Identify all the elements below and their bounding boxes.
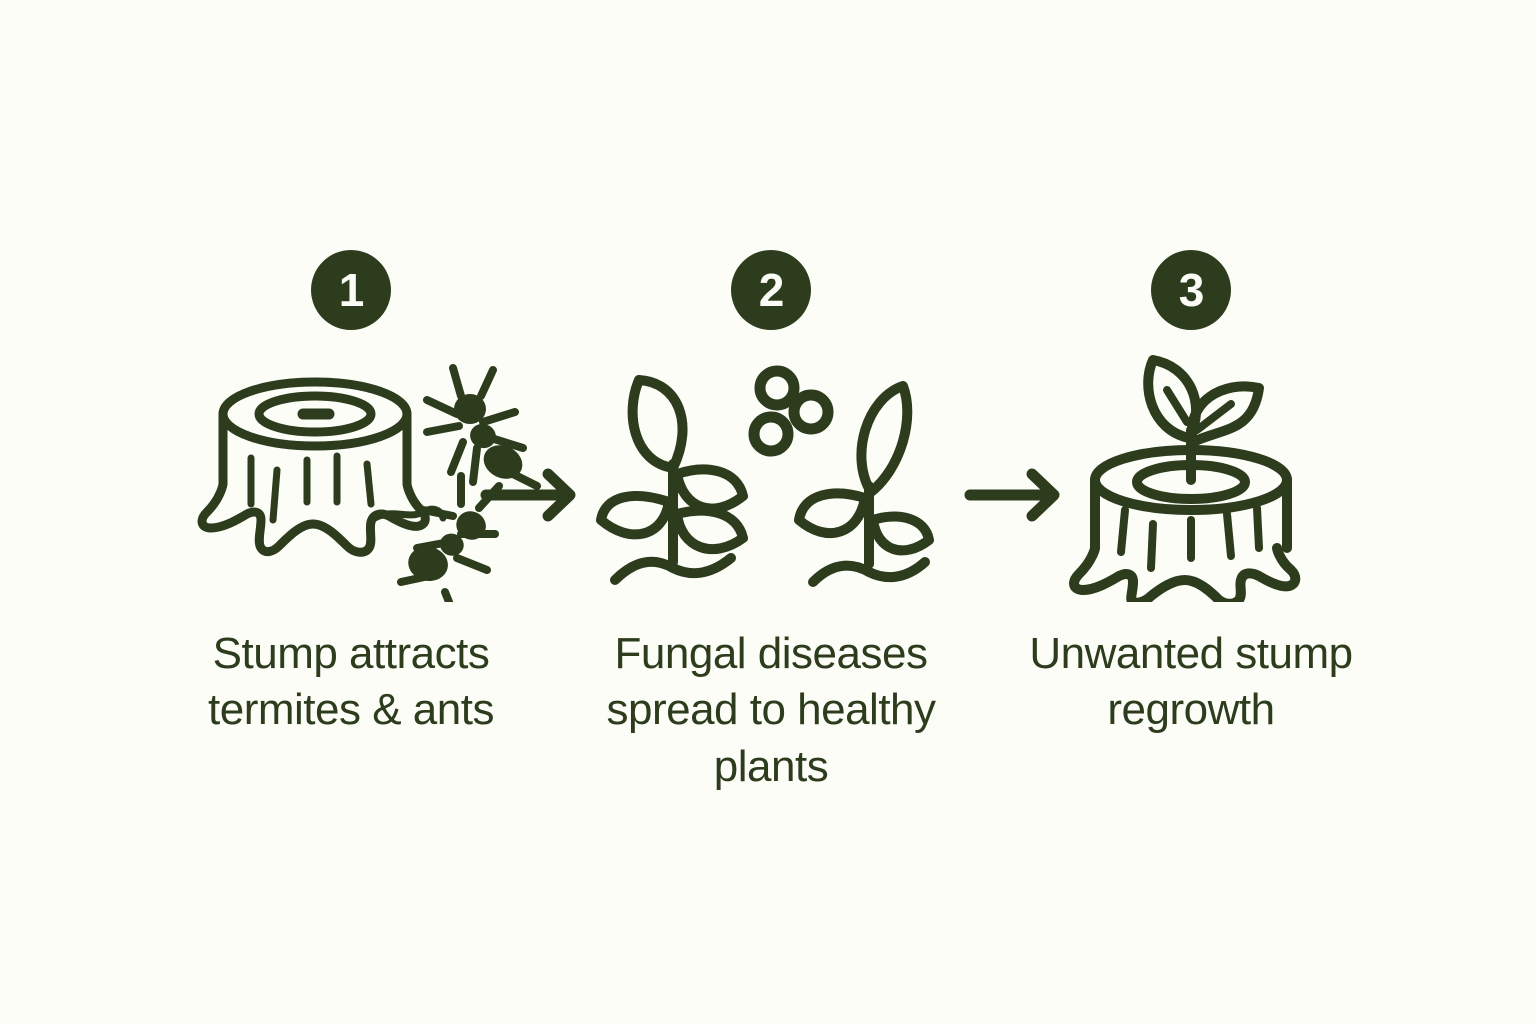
flow-step-1: 1 — [141, 0, 561, 739]
three-step-flow: 1 — [0, 0, 1536, 1024]
step-caption-1: Stump attracts termites & ants — [151, 626, 551, 739]
step-number-badge-1: 1 — [311, 250, 391, 330]
step-number-badge-2: 2 — [731, 250, 811, 330]
infographic-canvas: 1 — [0, 0, 1536, 1024]
plants-with-fungal-spores-icon — [581, 352, 961, 602]
step-number-badge-3: 3 — [1151, 250, 1231, 330]
flow-step-2: 2 — [561, 0, 981, 795]
step-caption-2: Fungal diseases spread to healthy plants — [571, 626, 971, 795]
arrow-right-icon-1 — [478, 460, 588, 530]
arrow-right-icon-2 — [962, 460, 1072, 530]
flow-step-3: 3 — [981, 0, 1401, 739]
step-caption-3: Unwanted stump regrowth — [991, 626, 1391, 739]
